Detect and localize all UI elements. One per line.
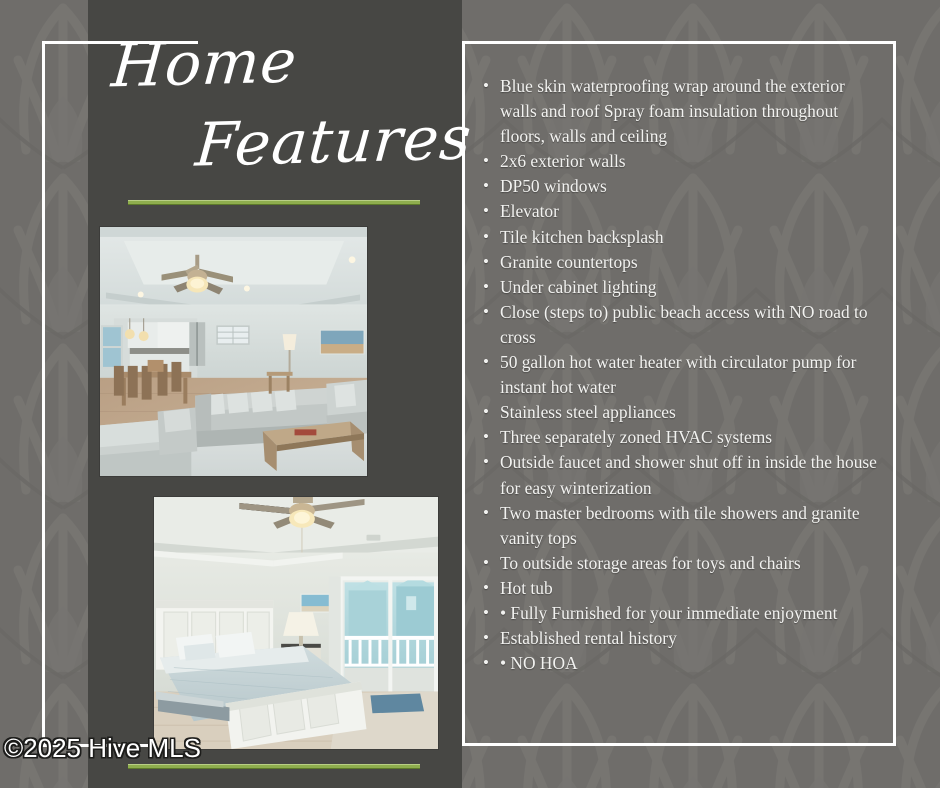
living-room-photo	[99, 226, 368, 477]
list-item: Stainless steel appliances	[481, 400, 881, 425]
flyer-page: Home Features	[0, 0, 940, 788]
list-item: Close (steps to) public beach access wit…	[481, 300, 881, 350]
page-title: Home Features	[104, 16, 434, 206]
title-line-features: Features	[193, 108, 474, 175]
list-item: 50 gallon hot water heater with circulat…	[481, 350, 881, 400]
mls-watermark: ©2025 Hive MLS	[4, 733, 201, 764]
list-item: To outside storage areas for toys and ch…	[481, 551, 881, 576]
list-item: Elevator	[481, 199, 881, 224]
title-line-home: Home	[109, 32, 299, 97]
list-item: Outside faucet and shower shut off in in…	[481, 450, 881, 500]
bedroom-photo	[153, 496, 439, 750]
list-item: Blue skin waterproofing wrap around the …	[481, 74, 881, 149]
list-item: Established rental history	[481, 626, 881, 651]
green-divider-bottom	[128, 764, 420, 769]
list-item: Hot tub	[481, 576, 881, 601]
list-item: Under cabinet lighting	[481, 275, 881, 300]
list-item: DP50 windows	[481, 174, 881, 199]
list-item: 2x6 exterior walls	[481, 149, 881, 174]
list-item: Tile kitchen backsplash	[481, 225, 881, 250]
features-list: Blue skin waterproofing wrap around the …	[481, 74, 881, 676]
list-item: Granite countertops	[481, 250, 881, 275]
list-item: Three separately zoned HVAC systems	[481, 425, 881, 450]
list-item: • Fully Furnished for your immediate enj…	[481, 601, 881, 626]
list-item: Two master bedrooms with tile showers an…	[481, 501, 881, 551]
list-item: • NO HOA	[481, 651, 881, 676]
green-divider-top	[128, 200, 420, 205]
